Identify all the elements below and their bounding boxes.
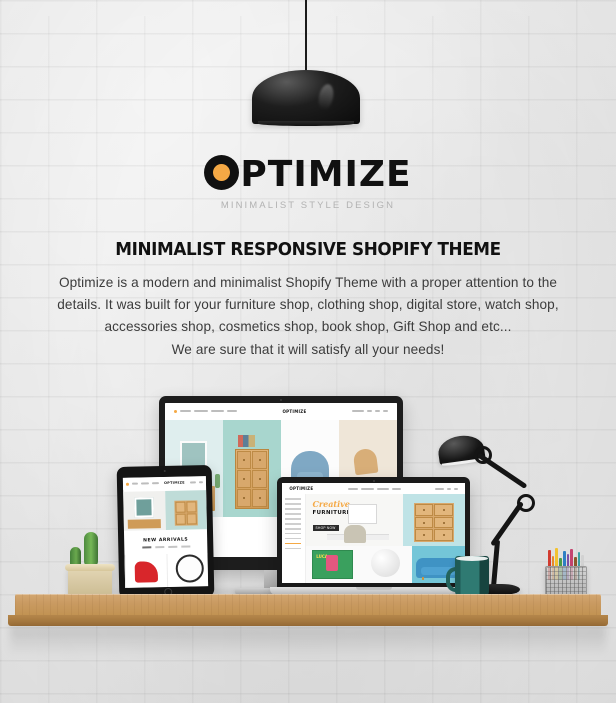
- nav-item-about[interactable]: [392, 488, 401, 490]
- cactus-body: [84, 532, 98, 568]
- nav-item-home[interactable]: [132, 483, 138, 485]
- tablet-product-grid: [124, 553, 208, 588]
- product-filter-tabs[interactable]: [142, 546, 190, 549]
- laptop-site-brand: OPTIMIZE: [289, 486, 313, 491]
- tablet-nav-tools[interactable]: [190, 481, 203, 483]
- promo-banner: PTIMIZE MINIMALIST STYLE DESIGN MINIMALI…: [0, 0, 616, 703]
- monitor-camera-icon: [280, 399, 282, 401]
- tablet-body: OPTIMIZE NEW ARRIVALS: [117, 465, 215, 599]
- cactus-plant-icon: [62, 527, 118, 599]
- cabinet-icon: [235, 449, 270, 509]
- clock-icon: [175, 554, 204, 583]
- nav-item-features[interactable]: [194, 410, 208, 412]
- description-line-3: accessories shop, cosmetics shop, book s…: [28, 316, 588, 338]
- laptop-base-notch: [356, 587, 392, 590]
- desk-lamp-stem: [491, 540, 500, 588]
- product-wall-clock[interactable]: [166, 553, 208, 587]
- tablet-screen: OPTIMIZE NEW ARRIVALS: [123, 476, 208, 588]
- hero-script-text: Creative: [313, 500, 351, 508]
- mug-rim: [456, 556, 488, 561]
- sidebar-item[interactable]: [285, 513, 301, 515]
- pencil-holder-icon: [545, 545, 587, 600]
- desktop-site-brand: OPTIMIZE: [282, 409, 306, 414]
- nav-item-home[interactable]: [348, 488, 358, 490]
- product-red-chair[interactable]: [124, 554, 166, 588]
- sidebar-item[interactable]: [285, 548, 301, 550]
- desk-lamp-joint-lower: [517, 494, 535, 512]
- tablet-site-nav: OPTIMIZE: [123, 476, 206, 490]
- nav-item-contact[interactable]: [211, 410, 224, 412]
- logo-o-icon: [204, 155, 239, 190]
- more-icon[interactable]: [383, 410, 388, 412]
- nav-item-contact[interactable]: [152, 482, 159, 484]
- cushion-icon: LUCA: [312, 550, 352, 580]
- account-icon[interactable]: [367, 410, 372, 412]
- tile-white-lamp[interactable]: [359, 546, 412, 583]
- sidebar-item[interactable]: [285, 533, 301, 535]
- pendant-lamp-highlight: [316, 83, 335, 111]
- filter-tab-featured[interactable]: [142, 546, 151, 548]
- sidebar-item[interactable]: [285, 523, 301, 525]
- cart-icon[interactable]: [199, 481, 203, 483]
- laptop-nav-links[interactable]: [348, 488, 401, 490]
- desk-lamp-joint-upper: [474, 446, 492, 464]
- desk-front-edge: [8, 615, 608, 626]
- filter-tab-top[interactable]: [181, 546, 190, 548]
- tablet-hero-right[interactable]: [165, 490, 207, 529]
- page-title: MINIMALIST RESPONSIVE SHOPIFY THEME: [12, 240, 603, 260]
- sideboard-icon: [128, 519, 161, 529]
- tablet-site-brand: OPTIMIZE: [164, 481, 185, 485]
- laptop-hero-scene[interactable]: Creative FURNITURE SHOP NOW: [306, 494, 403, 546]
- tablet-new-arrivals: NEW ARRIVALS: [124, 533, 207, 552]
- hero-title-text: FURNITURE: [313, 510, 351, 516]
- logo-wordmark: PTIMIZE: [204, 155, 411, 193]
- nav-item-contact[interactable]: [377, 488, 389, 490]
- search-icon[interactable]: [352, 410, 364, 412]
- filter-tab-latest[interactable]: [155, 546, 164, 548]
- sidebar-item[interactable]: [285, 538, 301, 540]
- filter-tab-sale[interactable]: [168, 546, 177, 548]
- laptop-camera-icon: [373, 480, 375, 482]
- wooden-desk: [15, 594, 601, 618]
- desktop-nav-tools[interactable]: [352, 410, 388, 412]
- cushion-figure-icon: [326, 555, 338, 571]
- sidebar-item[interactable]: [285, 508, 301, 510]
- hero-description: Optimize is a modern and minimalist Shop…: [28, 272, 588, 361]
- sidebar-item[interactable]: [285, 498, 301, 500]
- nav-item-home[interactable]: [180, 410, 191, 412]
- plant-pot-rim: [65, 564, 115, 571]
- pendant-lamp-icon: [371, 549, 400, 578]
- brand-tagline: MINIMALIST STYLE DESIGN: [0, 200, 616, 211]
- new-arrivals-title: NEW ARRIVALS: [143, 538, 188, 544]
- tablet-hero: [123, 490, 207, 530]
- sidebar-item[interactable]: [285, 518, 301, 520]
- wall-art-icon: [348, 504, 377, 524]
- search-icon[interactable]: [190, 481, 196, 483]
- menu-icon[interactable]: [126, 482, 129, 485]
- pendant-lamp-cord: [305, 0, 307, 75]
- description-line-1: Optimize is a modern and minimalist Shop…: [28, 272, 588, 294]
- pendant-lamp-icon: [252, 70, 360, 124]
- desktop-site-nav: OPTIMIZE: [165, 403, 397, 420]
- panel-wooden-cabinet[interactable]: [223, 420, 281, 517]
- brand-logo: PTIMIZE MINIMALIST STYLE DESIGN: [0, 155, 616, 211]
- tablet-nav-links[interactable]: [126, 482, 159, 486]
- tablet-camera-icon: [163, 470, 165, 472]
- coffee-mug-icon: [455, 556, 489, 598]
- nav-item-features[interactable]: [141, 482, 149, 484]
- cabinet-icon: [174, 501, 198, 526]
- tablet-mockup: OPTIMIZE NEW ARRIVALS: [117, 465, 215, 599]
- nav-item-about[interactable]: [227, 410, 237, 412]
- mug-body: [455, 556, 489, 598]
- tile-green-cushion[interactable]: LUCA: [306, 546, 359, 583]
- chair-icon: [344, 525, 365, 543]
- framed-art-icon: [134, 498, 153, 518]
- sidebar-item[interactable]: [285, 528, 301, 530]
- laptop-category-sidebar[interactable]: [282, 494, 306, 583]
- shop-now-button[interactable]: SHOP NOW: [313, 525, 339, 531]
- sidebar-item-active[interactable]: [285, 543, 301, 545]
- description-closing: We are sure that it will satisfy all you…: [28, 339, 588, 361]
- tablet-hero-left[interactable]: [123, 491, 165, 530]
- sidebar-item[interactable]: [285, 503, 301, 505]
- plant-right-icon: [215, 474, 219, 488]
- description-line-2: details. It was built for your furniture…: [28, 294, 588, 316]
- logo-letters: PTIMIZE: [240, 154, 411, 195]
- menu-icon[interactable]: [174, 410, 177, 413]
- red-chair-icon: [135, 561, 158, 582]
- desktop-nav-links[interactable]: [174, 410, 237, 413]
- cart-icon[interactable]: [375, 410, 380, 412]
- desk-drop-shadow: [10, 626, 606, 656]
- nav-item-features[interactable]: [361, 488, 374, 490]
- shelf-books-icon: [238, 435, 255, 447]
